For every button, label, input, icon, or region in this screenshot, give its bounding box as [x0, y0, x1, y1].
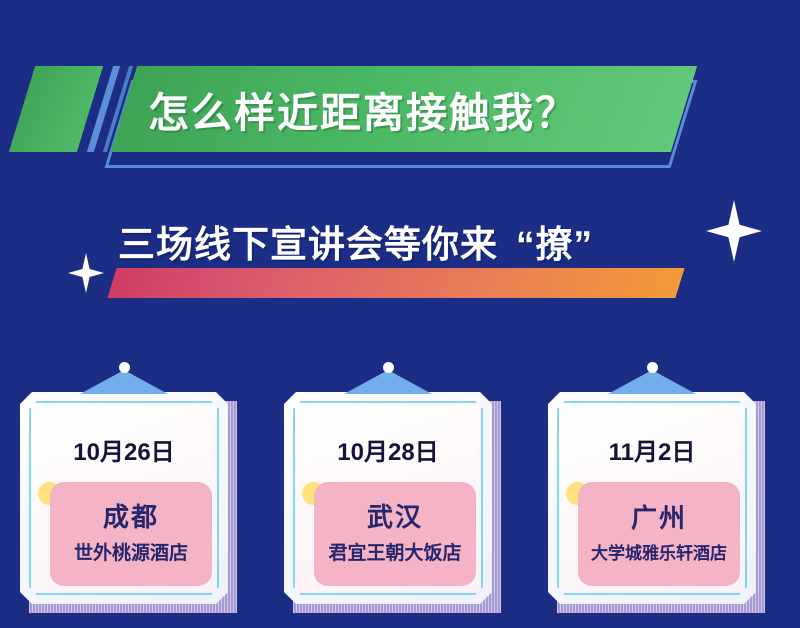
subtitle-main-text: 三场线下宣讲会等你来	[118, 214, 498, 268]
roof-finial-icon	[119, 362, 130, 373]
event-card-row: 10月26日 成都 世外桃源酒店 10月28日 武汉 君宜王朝大饭店	[0, 366, 800, 628]
event-city: 成都	[103, 503, 159, 532]
subtitle-gradient-bar	[107, 268, 684, 298]
roof-triangle-icon	[80, 370, 168, 394]
roof-triangle-icon	[608, 370, 696, 394]
event-venue: 大学城雅乐轩酒店	[591, 539, 727, 564]
promo-poster: 怎么样近距离接触我？ 三场线下宣讲会等你来 “撩” 10月26日	[0, 0, 800, 628]
roof-finial-icon	[383, 362, 394, 373]
event-date: 10月26日	[33, 432, 215, 467]
event-card[interactable]: 10月26日 成都 世外桃源酒店	[20, 392, 228, 604]
subtitle-text-row: 三场线下宣讲会等你来 “撩”	[118, 214, 758, 268]
event-card[interactable]: 11月2日 广州 大学城雅乐轩酒店	[548, 392, 756, 604]
subtitle-block: 三场线下宣讲会等你来 “撩”	[0, 196, 800, 316]
event-date: 10月28日	[297, 432, 479, 467]
subtitle-quoted-text: “撩”	[516, 214, 593, 268]
event-date: 11月2日	[561, 432, 743, 467]
roof-triangle-icon	[344, 370, 432, 394]
event-city: 武汉	[367, 503, 423, 532]
event-venue: 君宜王朝大饭店	[328, 538, 461, 565]
event-city: 广州	[631, 504, 687, 533]
headline-banner: 怎么样近距离接触我？	[0, 52, 800, 172]
event-location-pill: 广州 大学城雅乐轩酒店	[578, 482, 740, 586]
event-location-pill: 武汉 君宜王朝大饭店	[314, 482, 476, 586]
event-location-pill: 成都 世外桃源酒店	[50, 482, 212, 586]
banner-accent-shape	[9, 66, 103, 152]
headline-text: 怎么样近距离接触我？	[148, 72, 708, 146]
event-venue: 世外桃源酒店	[74, 538, 188, 565]
roof-finial-icon	[647, 362, 658, 373]
event-card[interactable]: 10月28日 武汉 君宜王朝大饭店	[284, 392, 492, 604]
